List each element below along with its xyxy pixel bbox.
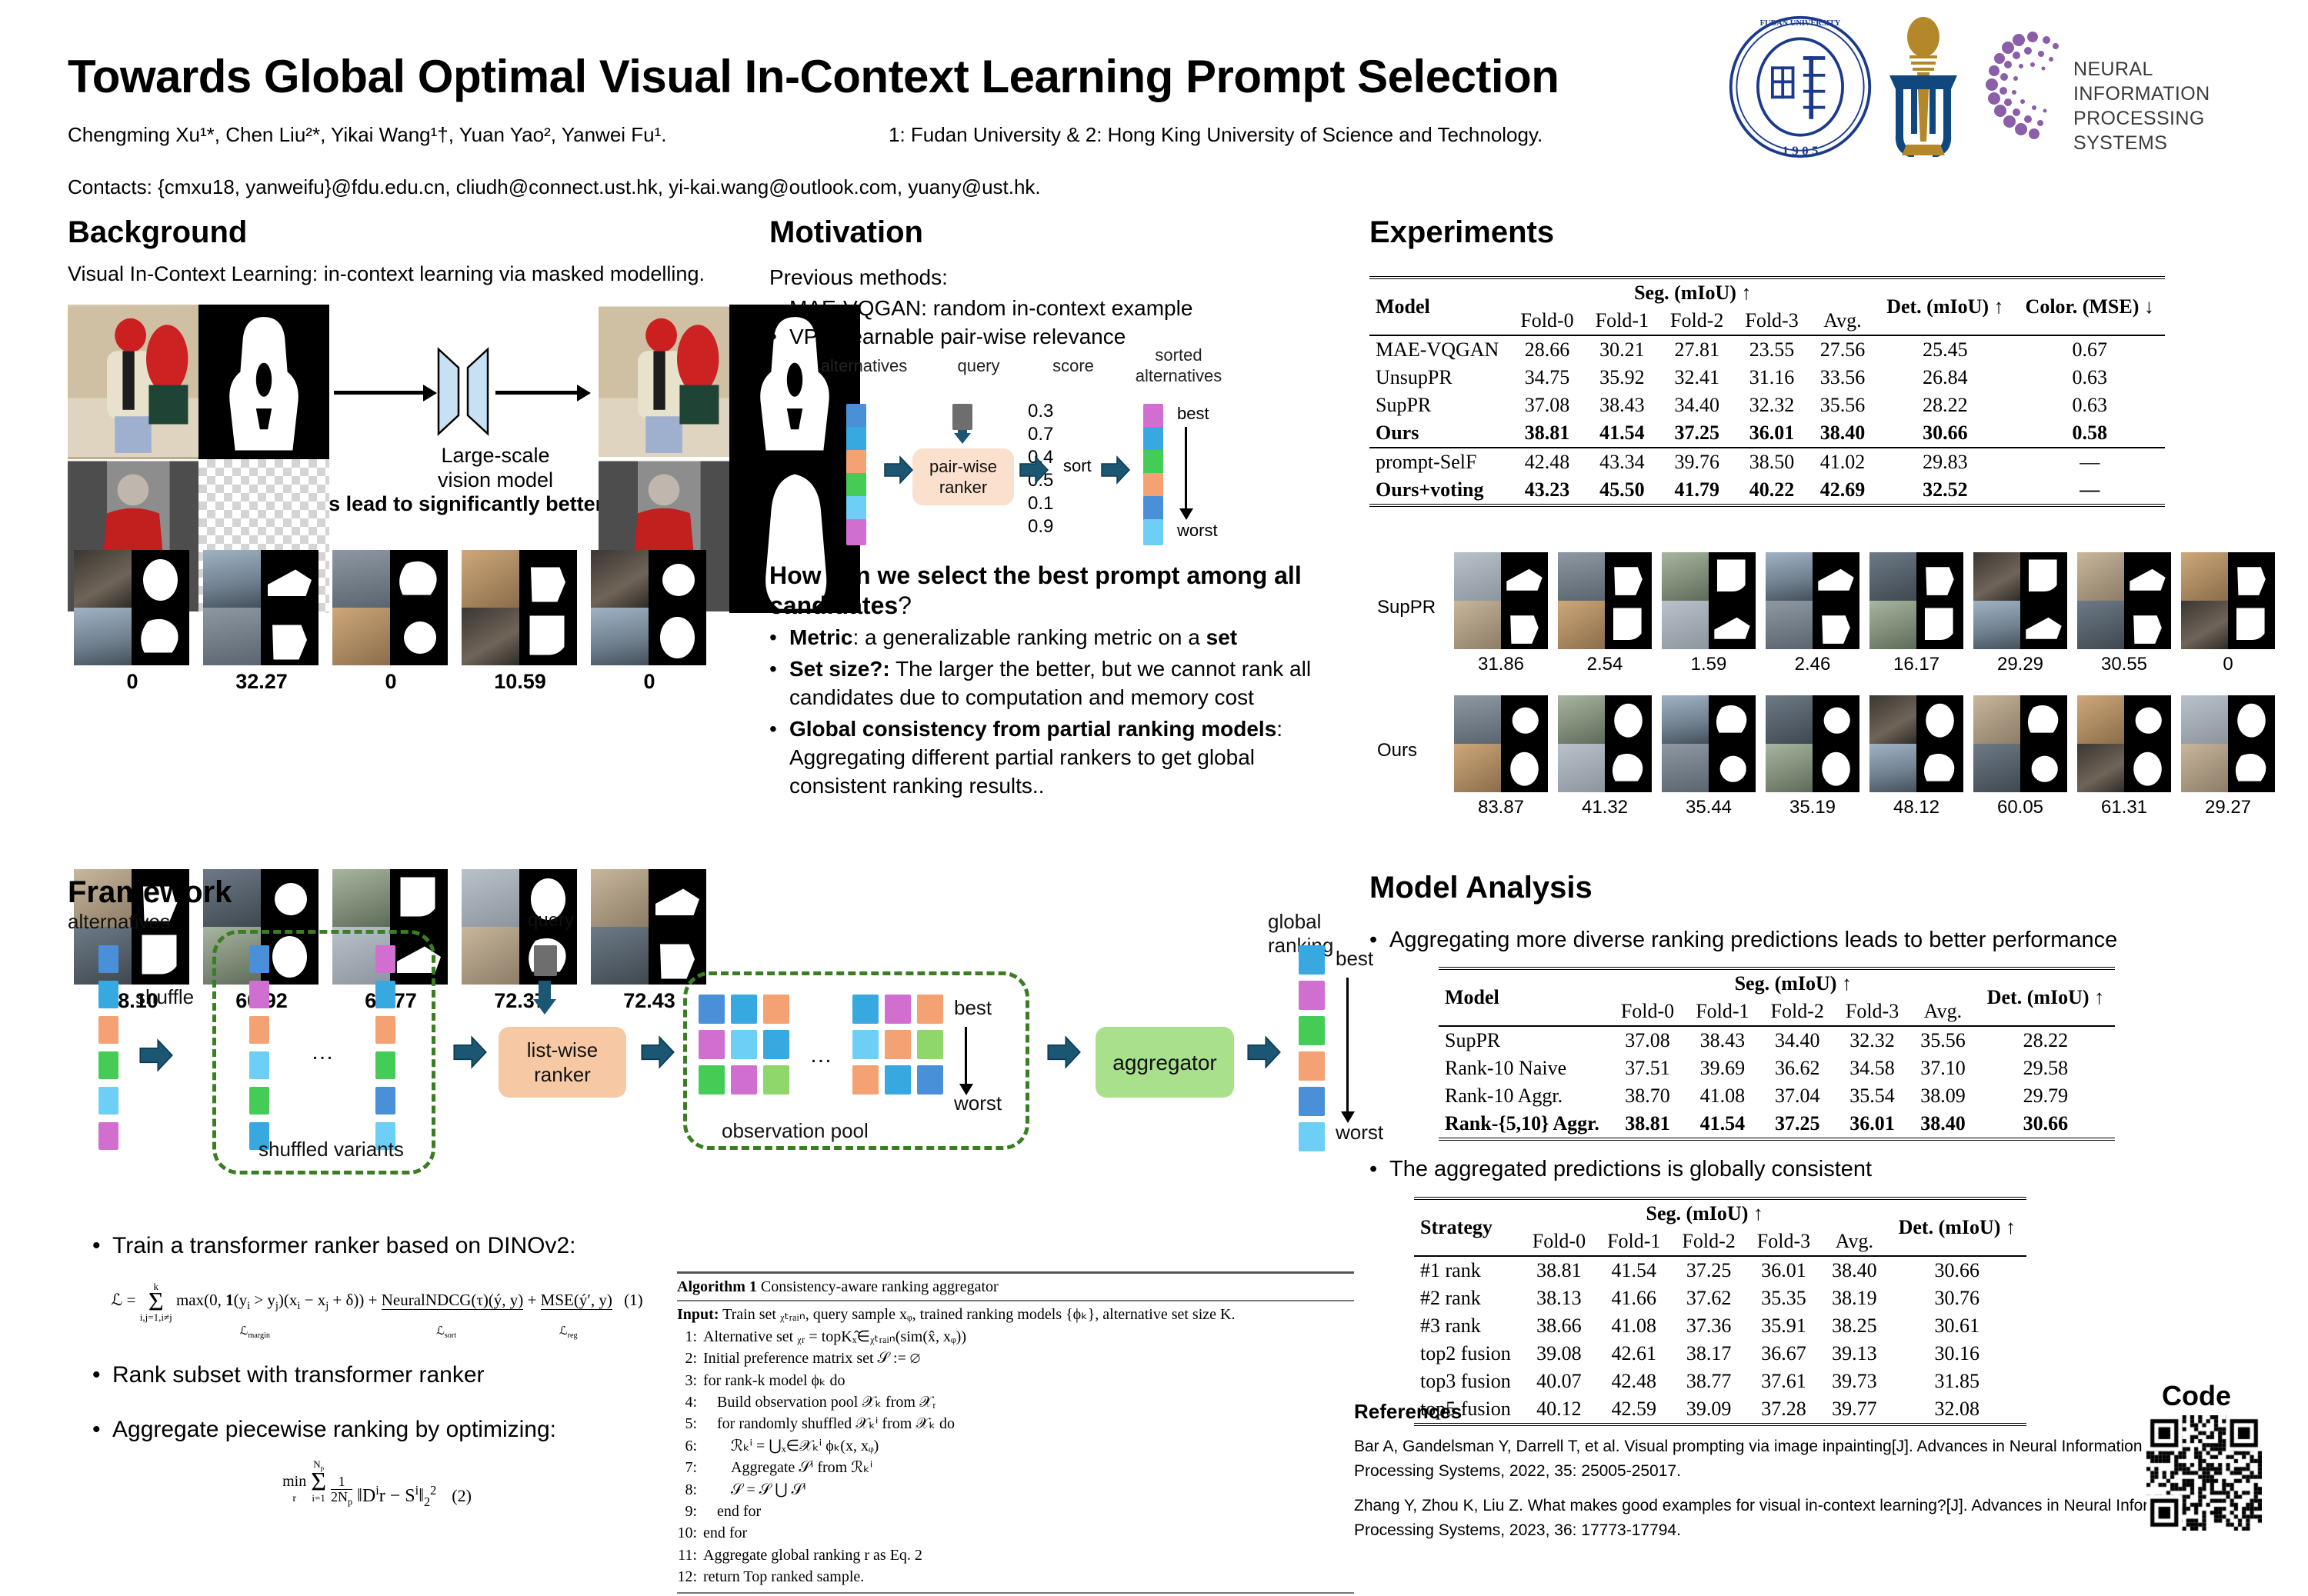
example-item-0: 0: [74, 550, 191, 694]
example-score: 0: [332, 670, 449, 694]
suppr-item-4: 16.17: [1869, 552, 1963, 675]
variant1-swatch-0: [249, 945, 269, 973]
table-row: UnsupPR34.7535.9232.4131.1633.5626.840.6…: [1369, 364, 2165, 392]
example-photo: [332, 550, 390, 608]
table-cell-color: 0.67: [2015, 335, 2165, 364]
table-cell-fold-4: 37.10: [1909, 1055, 1976, 1082]
table-cell-fold-3: 35.91: [1746, 1312, 1821, 1340]
table-cell-fold-4: 38.25: [1821, 1312, 1888, 1340]
table-cell-model: #3 rank: [1414, 1312, 1522, 1340]
pool-left-swatch-0-0: [699, 995, 725, 1024]
query-swatch: [534, 945, 557, 976]
bullet-dot-icon: •: [1369, 1155, 1389, 1184]
table-cell-det: 26.84: [1876, 364, 2014, 392]
table-cell-fold-2: 36.62: [1760, 1055, 1835, 1082]
qualitative-score: 0: [2181, 654, 2275, 675]
table-row: prompt-SelF42.4843.3439.7638.5041.0229.8…: [1369, 448, 2165, 476]
qualitative-image-pair: [1558, 552, 1652, 649]
qualitative-photo: [2181, 552, 2228, 601]
global-order-arrow-head: [1341, 1111, 1355, 1123]
qualitative-mask: [1813, 601, 1859, 649]
model-analysis-table-1-wrapper: ModelSeg. (mIoU) ↑Det. (mIoU) ↑Fold-0Fol…: [1439, 967, 2293, 1141]
table-row: #1 rank38.8141.5437.2536.0138.4030.66: [1414, 1256, 2026, 1284]
query-down-arrow-icon: [533, 999, 556, 1015]
listwise-ranker-line1: list-wise: [527, 1038, 598, 1061]
sorted-swatch-2: [1143, 450, 1163, 476]
qualitative-photo: [1973, 601, 2020, 649]
to-ranker-chevron: [452, 1035, 488, 1070]
motivation-bullet-0: •Metric: a generalizable ranking metric …: [769, 624, 1354, 652]
example-photo: [332, 608, 390, 665]
qualitative-mask: [1709, 601, 1756, 649]
qualitative-photo: [1558, 552, 1605, 601]
qualitative-photo: [1662, 744, 1709, 792]
qualitative-mask: [1916, 744, 1963, 792]
qualitative-score: 31.86: [1454, 654, 1548, 675]
qualitative-mask: [2020, 552, 2067, 601]
qualitative-mask: [1605, 695, 1652, 744]
variant2-swatch-1: [375, 981, 395, 1008]
table-cell-det: 28.22: [1876, 392, 2014, 419]
flow-arrow-left: [334, 391, 425, 395]
qualitative-mask: [1501, 552, 1548, 601]
listwise-ranker-box: list-wiseranker: [499, 1027, 626, 1098]
table-cell-model: Rank-{5,10} Aggr.: [1439, 1110, 1610, 1139]
ours-item-0: 83.87: [1454, 695, 1548, 818]
table-cell-fold-4: 39.13: [1821, 1340, 1888, 1368]
pool-order-arrow-head: [959, 1084, 973, 1095]
table-group-header-seg: Seg. (mIoU) ↑: [1610, 968, 1976, 998]
motivation-prev-bullet-1: • VPR: learnable pair-wise relevance: [769, 323, 1354, 352]
qualitative-image-pair: [2181, 552, 2275, 649]
suppr-item-6: 30.55: [2077, 552, 2171, 675]
photo-person-red-hat-copy: [599, 305, 729, 459]
framework-label-shuffle: shuffle: [135, 985, 194, 1009]
objective-equation-2: minr NpΣi=1 12Np ‖Dir − Si‖22 (2): [92, 1459, 662, 1509]
qualitative-mask: [2020, 695, 2067, 744]
listwise-ranker-line2: ranker: [534, 1063, 591, 1086]
qualitative-mask: [2124, 744, 2171, 792]
example-item-3: 10.59: [462, 550, 579, 694]
neurips-label-line1: NEURAL INFORMATION: [2073, 57, 2293, 106]
qualitative-image-pair: [2181, 695, 2275, 792]
pool-left-swatch-2-2: [763, 1065, 789, 1095]
alternative-swatch-4: [98, 1087, 118, 1115]
experiments-heading: Experiments: [1369, 215, 2277, 250]
table-cell-fold-1: 41.54: [1596, 1256, 1671, 1284]
table-cell-det: 30.66: [1876, 419, 2014, 448]
table-col-fold-4: Avg.: [1809, 307, 1876, 335]
worst-label: worst: [1177, 521, 1218, 541]
qualitative-mask: [1813, 552, 1859, 601]
table-row: Rank-10 Naive37.5139.6936.6234.5837.1029…: [1439, 1055, 2115, 1082]
table-cell-fold-0: 39.08: [1522, 1340, 1596, 1368]
qualitative-mask: [1501, 744, 1548, 792]
algorithm-input-line: Input: Train set ᵪₜᵣₐᵢₙ, query sample xᵩ…: [677, 1304, 1354, 1325]
qualitative-photo: [1454, 601, 1501, 649]
qualitative-photo: [1869, 601, 1916, 649]
example-item-1: 32.27: [203, 550, 320, 694]
table-cell-fold-0: 34.75: [1509, 364, 1584, 392]
pool-right-swatch-0-2: [917, 995, 943, 1024]
qualitative-photo: [1973, 552, 2020, 601]
pool-right-swatch-1-2: [917, 1030, 943, 1059]
table-row: #2 rank38.1341.6637.6235.3538.1930.76: [1414, 1284, 2026, 1312]
neurips-label-line2: PROCESSING SYSTEMS: [2073, 106, 2293, 155]
ours-item-6: 61.31: [2077, 695, 2171, 818]
example-photo: [591, 608, 649, 665]
variant1-swatch-4: [249, 1087, 269, 1115]
qualitative-photo: [2077, 552, 2124, 601]
photo-person-red-hat: [68, 305, 198, 459]
qualitative-mask: [2020, 601, 2067, 649]
query-down-arrow-stem: [958, 430, 967, 438]
qualitative-photo: [1766, 695, 1813, 744]
section-references: References Bar A, Gandelsman Y, Darrell …: [1354, 1400, 2200, 1542]
table-cell-fold-4: 35.56: [1909, 1026, 1976, 1055]
table-col-fold-0: Fold-0: [1509, 307, 1584, 335]
section-model-analysis: Model Analysis • Aggregating more divers…: [1369, 871, 2293, 1426]
example-item-2: 0: [332, 550, 449, 694]
table-cell-fold-3: 36.67: [1746, 1340, 1821, 1368]
ours-item-3: 35.19: [1766, 695, 1859, 818]
qualitative-image-pair: [1558, 695, 1652, 792]
table-col-model: Strategy: [1414, 1198, 1522, 1256]
qualitative-photo: [2181, 744, 2228, 792]
shuffle-chevron: [138, 1038, 174, 1073]
example-image-pair: [591, 550, 706, 665]
pool-left-swatch-2-0: [699, 1065, 725, 1095]
qualitative-photo: [1662, 695, 1709, 744]
qualitative-score: 48.12: [1869, 797, 1963, 818]
ours-item-2: 35.44: [1662, 695, 1756, 818]
qualitative-photo: [1454, 552, 1501, 601]
table-row: SupPR37.0838.4334.4032.3235.5628.22: [1439, 1026, 2115, 1055]
svg-text:FUDAN UNIVERSITY: FUDAN UNIVERSITY: [1760, 19, 1841, 28]
table-cell-det: 31.85: [1888, 1368, 2026, 1395]
suppr-item-2: 1.59: [1662, 552, 1756, 675]
diagram-label-query: query: [932, 356, 1025, 376]
example-image-pair: [462, 550, 577, 665]
query-swatch: [952, 404, 972, 430]
pairwise-ranker-diagram: alternatives query score sorted alternat…: [769, 356, 1354, 548]
table-col-det: Det. (mIoU) ↑: [1888, 1198, 2026, 1256]
algorithm-line-number-5: 6:: [677, 1435, 703, 1457]
algorithm-line-10: 11:Aggregate global ranking r as Eq. 2: [677, 1544, 1354, 1566]
table-col-fold-3: Fold-3: [1746, 1228, 1821, 1256]
table-cell-model: top2 fusion: [1414, 1340, 1522, 1368]
framework-label-observation-pool: observation pool: [722, 1119, 869, 1143]
table-cell-fold-1: 38.43: [1585, 392, 1659, 419]
bullet-dot-icon: •: [92, 1414, 112, 1445]
motivation-bullet-text-2: Global consistency from partial ranking …: [789, 715, 1354, 801]
pool-right-swatch-1-1: [885, 1030, 911, 1059]
page-title: Towards Global Optimal Visual In-Context…: [68, 52, 1745, 101]
qualitative-photo: [1766, 552, 1813, 601]
flow-chevron-0: [883, 455, 914, 485]
qualitative-image-pair: [1766, 695, 1859, 792]
table-col-model: Model: [1369, 278, 1509, 335]
contact-line: Contacts: {cmxu18, yanweifu}@fdu.edu.cn,…: [68, 175, 1041, 199]
table-cell-fold-2: 38.77: [1671, 1368, 1746, 1395]
neurips-logo: NEURAL INFORMATION PROCESSING SYSTEMS: [1985, 28, 2293, 143]
qr-code-icon[interactable]: [2146, 1415, 2262, 1531]
algorithm-line-text-6: Aggregate 𝒮ⁱ from ℛₖⁱ: [703, 1457, 872, 1478]
table-col-fold-2: Fold-2: [1671, 1228, 1746, 1256]
variant2-swatch-0: [375, 945, 395, 973]
example-score: 0: [74, 670, 191, 694]
sort-label: sort: [1063, 456, 1092, 476]
table-cell-fold-4: 42.69: [1809, 476, 1876, 505]
qualitative-mask: [1813, 695, 1859, 744]
qualitative-mask: [1605, 744, 1652, 792]
algorithm-line-text-11: return Top ranked sample.: [703, 1566, 864, 1588]
alternative-swatch-3: [98, 1051, 118, 1079]
example-image-pair: [332, 550, 448, 665]
qualitative-mask: [2228, 695, 2275, 744]
bullet-dot-icon: •: [769, 323, 789, 352]
table-cell-fold-0: 38.81: [1522, 1256, 1596, 1284]
variant2-swatch-3: [375, 1051, 395, 1079]
table-cell-color: 0.63: [2015, 364, 2165, 392]
qualitative-mask: [1709, 695, 1756, 744]
example-photo: [74, 608, 132, 665]
algorithm-title: Algorithm 1 Consistency-aware ranking ag…: [677, 1276, 1354, 1298]
framework-diagram: alternativesshuffle…shuffled variantsque…: [68, 910, 1376, 1187]
algorithm-line-3: 4:Build observation pool 𝒳ₖ from 𝒳ᵣ: [677, 1391, 1354, 1413]
global-ranking-swatch-4: [1299, 1087, 1325, 1116]
qualitative-photo: [1454, 744, 1501, 792]
bullet-dot-icon: •: [769, 655, 789, 712]
qualitative-photo: [2181, 695, 2228, 744]
background-figure: Large-scale vision model: [68, 297, 729, 481]
algorithm-line-number-6: 7:: [677, 1457, 703, 1478]
svg-text:1 9 0 5: 1 9 0 5: [1782, 143, 1818, 158]
algorithm-line-5: 6:ℛₖⁱ = ⋃ₓ∈𝒳ₖⁱ ϕₖ(x, xᵩ): [677, 1435, 1354, 1457]
algorithm-line-1: 2:Initial preference matrix set 𝒮 := ∅: [677, 1348, 1354, 1369]
pool-ellipsis: …: [809, 1042, 835, 1068]
qualitative-image-pair: [1973, 552, 2067, 649]
pool-right-swatch-0-0: [852, 995, 879, 1024]
global-ranking-swatch-2: [1299, 1016, 1325, 1045]
table-cell-fold-1: 30.21: [1585, 335, 1659, 364]
algorithm-line-number-10: 11:: [677, 1544, 703, 1566]
table-cell-fold-3: 37.61: [1746, 1368, 1821, 1395]
motivation-prev-bullet-0: • MAE-VQGAN: random in-context example: [769, 295, 1354, 323]
qualitative-mask: [1813, 744, 1859, 792]
bullet-dot-icon: •: [92, 1360, 112, 1391]
qualitative-score: 83.87: [1454, 797, 1548, 818]
qualitative-mask: [2124, 552, 2171, 601]
model-analysis-table-2-wrapper: StrategySeg. (mIoU) ↑Det. (mIoU) ↑Fold-0…: [1414, 1197, 2293, 1426]
aggregator-box: aggregator: [1096, 1027, 1234, 1098]
example-mask: [261, 608, 319, 665]
qualitative-image-pair: [1454, 552, 1548, 649]
qualitative-mask: [1916, 695, 1963, 744]
qualitative-photo: [1869, 695, 1916, 744]
table-cell-fold-4: 33.56: [1809, 364, 1876, 392]
table-cell-fold-2: 27.81: [1659, 335, 1734, 364]
qualitative-mask: [2228, 601, 2275, 649]
ours-item-4: 48.12: [1869, 695, 1963, 818]
table-cell-fold-1: 45.50: [1585, 476, 1659, 505]
reference-item-0: Bar A, Gandelsman Y, Darrell T, et al. V…: [1354, 1434, 2200, 1483]
table-col-fold-4: Avg.: [1821, 1228, 1888, 1256]
global-ranking-swatch-5: [1299, 1122, 1325, 1151]
table-col-fold-2: Fold-2: [1659, 307, 1734, 335]
table-cell-fold-4: 38.40: [1909, 1110, 1976, 1139]
qualitative-score: 60.05: [1973, 797, 2067, 818]
suppr-row-label: SupPR: [1377, 597, 1436, 618]
table-cell-model: UnsupPR: [1369, 364, 1509, 392]
suppr-item-3: 2.46: [1766, 552, 1859, 675]
alternative-swatch-4: [846, 496, 866, 522]
table-cell-color: —: [2015, 476, 2165, 505]
table-cell-fold-3: 36.01: [1734, 419, 1809, 448]
table-cell-fold-2: 37.62: [1671, 1284, 1746, 1312]
pool-left-swatch-1-0: [699, 1030, 725, 1059]
qualitative-image-pair: [1869, 552, 1963, 649]
diagram-label-sorted: sorted alternatives: [1109, 345, 1248, 386]
table-cell-fold-3: 35.54: [1835, 1082, 1909, 1110]
table-cell-fold-1: 38.43: [1685, 1026, 1759, 1055]
table-cell-fold-0: 37.51: [1610, 1055, 1685, 1082]
table-cell-fold-2: 37.04: [1760, 1082, 1835, 1110]
mask-person-1: [198, 305, 329, 459]
table-cell-fold-2: 39.76: [1659, 448, 1734, 476]
table-cell-fold-0: 38.66: [1522, 1312, 1596, 1340]
algorithm-line-number-11: 12:: [677, 1566, 703, 1588]
table-cell-fold-4: 38.09: [1909, 1082, 1976, 1110]
table-cell-model: top3 fusion: [1414, 1368, 1522, 1395]
table-cell-model: MAE-VQGAN: [1369, 335, 1509, 364]
table-cell-fold-4: 27.56: [1809, 335, 1876, 364]
table-col-fold-2: Fold-2: [1760, 998, 1835, 1026]
motivation-bullet-text-0: Metric: a generalizable ranking metric o…: [789, 624, 1237, 652]
table-row: MAE-VQGAN28.6630.2127.8123.5527.5625.450…: [1369, 335, 2165, 364]
global-order-arrow-line: [1346, 978, 1349, 1115]
alternative-swatch-2: [846, 450, 866, 476]
qualitative-mask: [2124, 601, 2171, 649]
alternative-swatch-0: [846, 404, 866, 430]
table-cell-det: 30.66: [1888, 1256, 2026, 1284]
table-cell-fold-0: 38.81: [1509, 419, 1584, 448]
background-example-row-1: 032.27010.590: [74, 550, 712, 696]
table-row: SupPR37.0838.4334.4032.3235.5628.220.63: [1369, 392, 2165, 419]
example-photo: [203, 608, 261, 665]
algorithm-line-text-0: Alternative set ᵪᵣ = topKₓ̂∈ᵪₜᵣₐᵢₙ(sim(x…: [703, 1326, 966, 1348]
vision-model-icon: [435, 345, 491, 438]
qualitative-photo: [2077, 744, 2124, 792]
bullet-dot-icon: •: [769, 295, 789, 323]
algorithm-block: Algorithm 1 Consistency-aware ranking ag…: [677, 1269, 1354, 1596]
model-analysis-table-2: StrategySeg. (mIoU) ↑Det. (mIoU) ↑Fold-0…: [1414, 1197, 2026, 1426]
table-cell-det: 30.61: [1888, 1312, 2026, 1340]
example-score: 32.27: [203, 670, 320, 694]
algorithm-line-number-7: 8:: [677, 1479, 703, 1501]
pool-right-swatch-2-1: [885, 1065, 911, 1095]
pool-left-swatch-1-1: [731, 1030, 757, 1059]
example-image-pair: [203, 550, 319, 665]
example-mask: [649, 550, 706, 608]
table-cell-fold-1: 41.08: [1685, 1082, 1759, 1110]
alternative-swatch-5: [98, 1122, 118, 1150]
table-cell-model: Ours+voting: [1369, 476, 1509, 505]
table-cell-model: #1 rank: [1414, 1256, 1522, 1284]
alternative-swatch-1: [846, 427, 866, 453]
variants-ellipsis: …: [311, 1039, 336, 1065]
global-ranking-swatch-3: [1299, 1051, 1325, 1081]
table-cell-fold-0: 37.08: [1509, 392, 1584, 419]
algorithm-line-4: 5:for randomly shuffled 𝒳ₖⁱ from 𝒳ₖ do: [677, 1413, 1354, 1434]
table-col-fold-1: Fold-1: [1596, 1228, 1671, 1256]
table-cell-det: 25.45: [1876, 335, 2014, 364]
table-col-fold-3: Fold-3: [1835, 998, 1909, 1026]
table-group-header-seg: Seg. (mIoU) ↑: [1522, 1198, 1888, 1228]
qualitative-photo: [1869, 744, 1916, 792]
qualitative-image-pair: [1662, 552, 1756, 649]
experiments-table-wrapper: ModelSeg. (mIoU) ↑Det. (mIoU) ↑Color. (M…: [1369, 276, 2277, 507]
example-mask: [519, 608, 577, 665]
algorithm-line-number-3: 4:: [677, 1391, 703, 1413]
framework-bullet-2: • Aggregate piecewise ranking by optimiz…: [92, 1414, 662, 1445]
qualitative-photo: [1558, 695, 1605, 744]
table-cell-fold-2: 38.17: [1671, 1340, 1746, 1368]
global-ranking-swatch-0: [1299, 945, 1325, 975]
table-cell-fold-4: 41.02: [1809, 448, 1876, 476]
qualitative-score: 1.59: [1662, 654, 1756, 675]
qualitative-mask: [1501, 601, 1548, 649]
qualitative-mask: [1709, 744, 1756, 792]
qualitative-photo: [1662, 601, 1709, 649]
table-col-fold-3: Fold-3: [1734, 307, 1809, 335]
background-heading: Background: [68, 215, 729, 250]
table-cell-fold-0: 42.48: [1509, 448, 1584, 476]
algorithm-line-text-5: ℛₖⁱ = ⋃ₓ∈𝒳ₖⁱ ϕₖ(x, xᵩ): [703, 1435, 879, 1457]
input-example-pair: [68, 305, 329, 481]
table-cell-model: SupPR: [1439, 1026, 1610, 1055]
qualitative-photo: [1662, 552, 1709, 601]
table-cell-fold-0: 38.70: [1610, 1082, 1685, 1110]
alternative-swatch-1: [98, 981, 118, 1008]
algorithm-line-number-1: 2:: [677, 1348, 703, 1369]
qualitative-image-pair: [1869, 695, 1963, 792]
example-item-4: 0: [591, 550, 708, 694]
qualitative-photo: [2181, 601, 2228, 649]
qualitative-image-pair: [2077, 552, 2171, 649]
example-mask: [390, 608, 448, 665]
algorithm-line-9: 10:end for: [677, 1522, 1354, 1544]
pool-right-swatch-2-0: [852, 1065, 879, 1095]
qualitative-photo: [1869, 552, 1916, 601]
framework-label-query: query: [528, 910, 574, 931]
affiliation-list: 1: Fudan University & 2: Hong King Unive…: [889, 123, 1543, 147]
qualitative-score: 35.44: [1662, 797, 1756, 818]
table-col-fold-0: Fold-0: [1522, 1228, 1596, 1256]
table-row: top3 fusion40.0742.4838.7737.6139.7331.8…: [1414, 1368, 2026, 1395]
table-cell-fold-1: 43.34: [1585, 448, 1659, 476]
table-col-model: Model: [1439, 968, 1610, 1026]
table-cell-model: Rank-10 Naive: [1439, 1055, 1610, 1082]
table-cell-fold-0: 28.66: [1509, 335, 1584, 364]
algorithm-line-text-1: Initial preference matrix set 𝒮 := ∅: [703, 1348, 920, 1369]
flow-chevron-1: [1019, 455, 1049, 485]
variant1-swatch-3: [249, 1051, 269, 1079]
table-cell-model: SupPR: [1369, 392, 1509, 419]
example-photo: [203, 550, 261, 608]
table-cell-model: Rank-10 Aggr.: [1439, 1082, 1610, 1110]
table-cell-fold-3: 32.32: [1734, 392, 1809, 419]
